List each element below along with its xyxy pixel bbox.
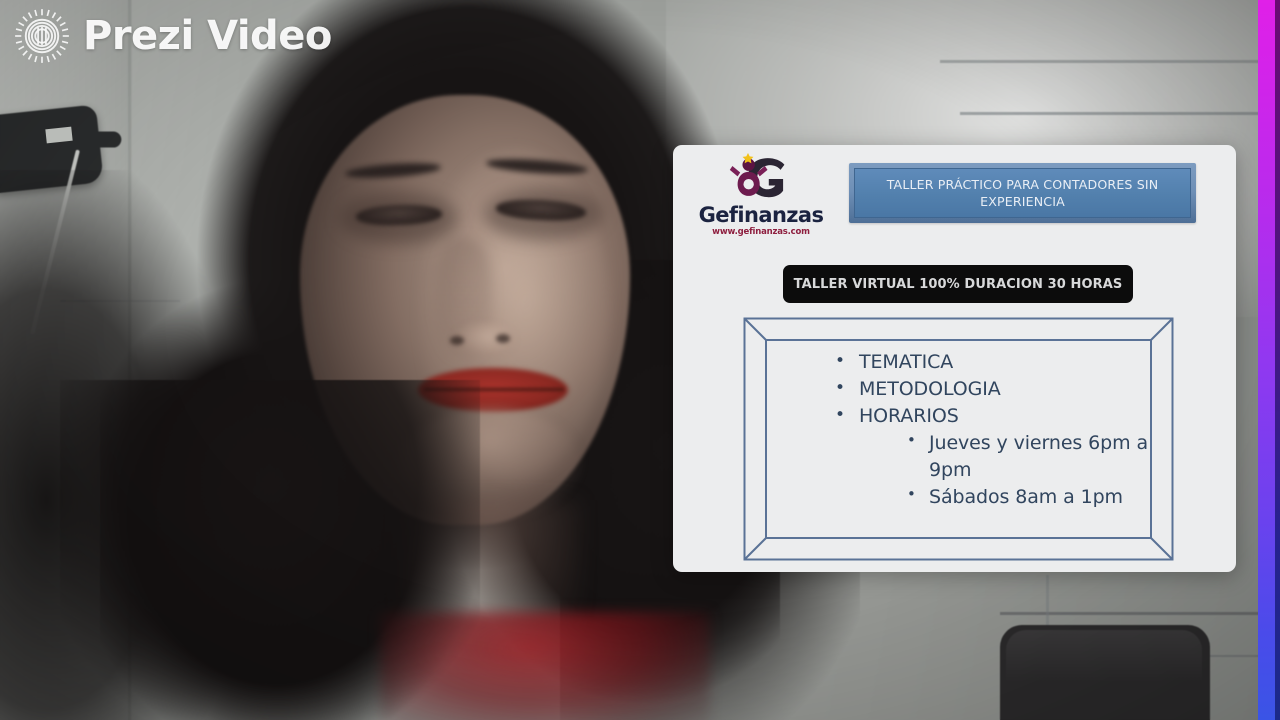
person-hair-lower <box>60 380 480 720</box>
slide-title-inner: TALLER PRÁCTICO PARA CONTADORES SIN EXPE… <box>854 168 1191 218</box>
wall-seam-line <box>940 60 1280 63</box>
desk-clamp-notch <box>45 127 72 144</box>
slide-banner-text: TALLER VIRTUAL 100% DURACION 30 HORAS <box>794 277 1123 292</box>
prezi-gradient-edge-shadow <box>1275 0 1280 720</box>
brand-name: Prezi Video <box>83 16 332 56</box>
sub-bullet-label: Jueves y viernes 6pm a 9pm <box>929 432 1148 481</box>
list-item: TEMATICA <box>829 349 1159 376</box>
slide-title-box: TALLER PRÁCTICO PARA CONTADORES SIN EXPE… <box>849 163 1196 223</box>
nostril-right <box>496 334 510 343</box>
slide-header: Gefinanzas www.gefinanzas.com TALLER PRÁ… <box>673 145 1236 243</box>
prezi-gradient-edge-bar <box>1258 0 1275 720</box>
list-item: Jueves y viernes 6pm a 9pm <box>903 430 1159 484</box>
gefinanzas-logo: Gefinanzas www.gefinanzas.com <box>691 153 831 237</box>
slide-bullet-frame: TEMATICA METODOLOGIA HORARIOS Jueves y v… <box>743 317 1174 561</box>
slide-banner: TALLER VIRTUAL 100% DURACION 30 HORAS <box>783 265 1133 303</box>
presentation-slide-card: Gefinanzas www.gefinanzas.com TALLER PRÁ… <box>673 145 1236 572</box>
wall-seam-line <box>1000 612 1280 615</box>
wall-seam-line <box>960 112 1280 115</box>
list-item: Sábados 8am a 1pm <box>903 484 1159 511</box>
bullet-label: METODOLOGIA <box>859 378 1001 400</box>
prezi-video-stage: Prezi Video Gefinanzas www.gefin <box>0 0 1280 720</box>
bullet-list-root: TEMATICA METODOLOGIA HORARIOS Jueves y v… <box>829 349 1159 511</box>
bullet-label: HORARIOS <box>859 405 959 427</box>
prezi-video-watermark: Prezi Video <box>14 8 332 64</box>
prezi-sunburst-icon <box>14 8 70 64</box>
gefinanzas-url: www.gefinanzas.com <box>691 227 831 237</box>
slide-bullet-list: TEMATICA METODOLOGIA HORARIOS Jueves y v… <box>829 349 1159 511</box>
gefinanzas-wordmark: Gefinanzas <box>691 204 831 226</box>
bullet-label: TEMATICA <box>859 351 953 373</box>
gefinanzas-logo-icon <box>722 153 800 205</box>
office-chair-highlight <box>1006 630 1202 720</box>
sub-bullet-label: Sábados 8am a 1pm <box>929 486 1123 508</box>
nostril-left <box>450 336 464 345</box>
list-item: METODOLOGIA <box>829 376 1159 403</box>
bullet-sublist: Jueves y viernes 6pm a 9pm Sábados 8am a… <box>859 430 1159 511</box>
list-item: HORARIOS Jueves y viernes 6pm a 9pm Sába… <box>829 403 1159 511</box>
slide-title-text: TALLER PRÁCTICO PARA CONTADORES SIN EXPE… <box>869 176 1176 210</box>
